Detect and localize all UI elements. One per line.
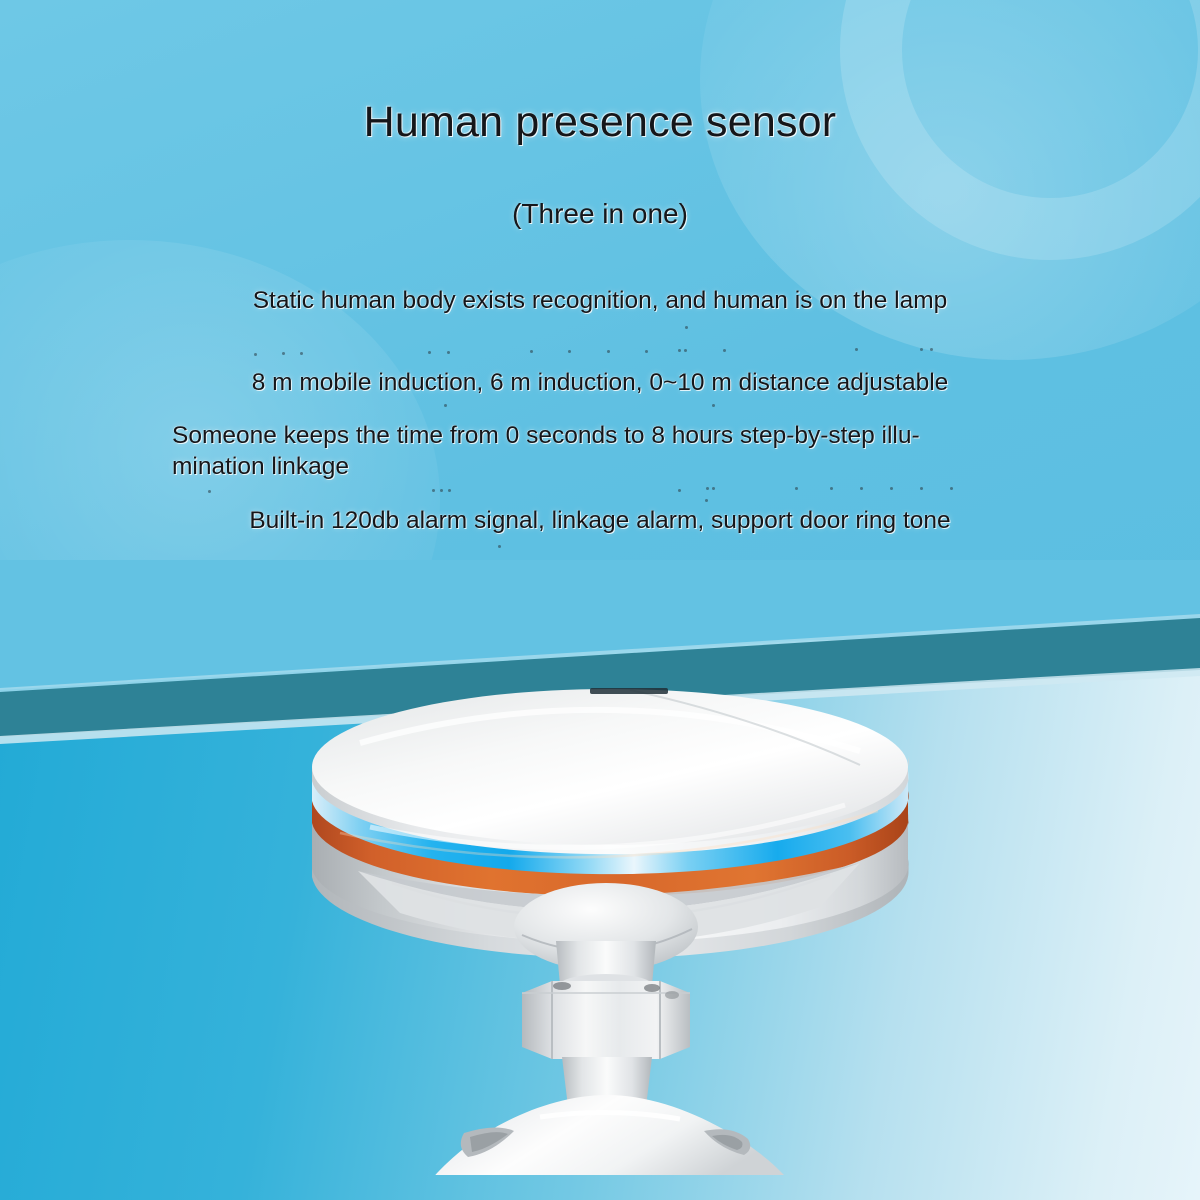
text-content: Human presence sensor (Three in one) Sta… — [0, 0, 1200, 1200]
feature-line-2: 8 m mobile induction, 6 m induction, 0~1… — [0, 367, 1200, 398]
page-subtitle: (Three in one) — [0, 198, 1200, 230]
feature-line-4: Built-in 120db alarm signal, linkage ala… — [0, 505, 1200, 536]
feature-line-1: Static human body exists recognition, an… — [0, 285, 1200, 316]
page-title: Human presence sensor — [0, 98, 1200, 147]
feature-line-3: Someone keeps the time from 0 seconds to… — [172, 420, 1062, 483]
compression-speckles — [0, 0, 1200, 1200]
product-poster: Human presence sensor (Three in one) Sta… — [0, 0, 1200, 1200]
